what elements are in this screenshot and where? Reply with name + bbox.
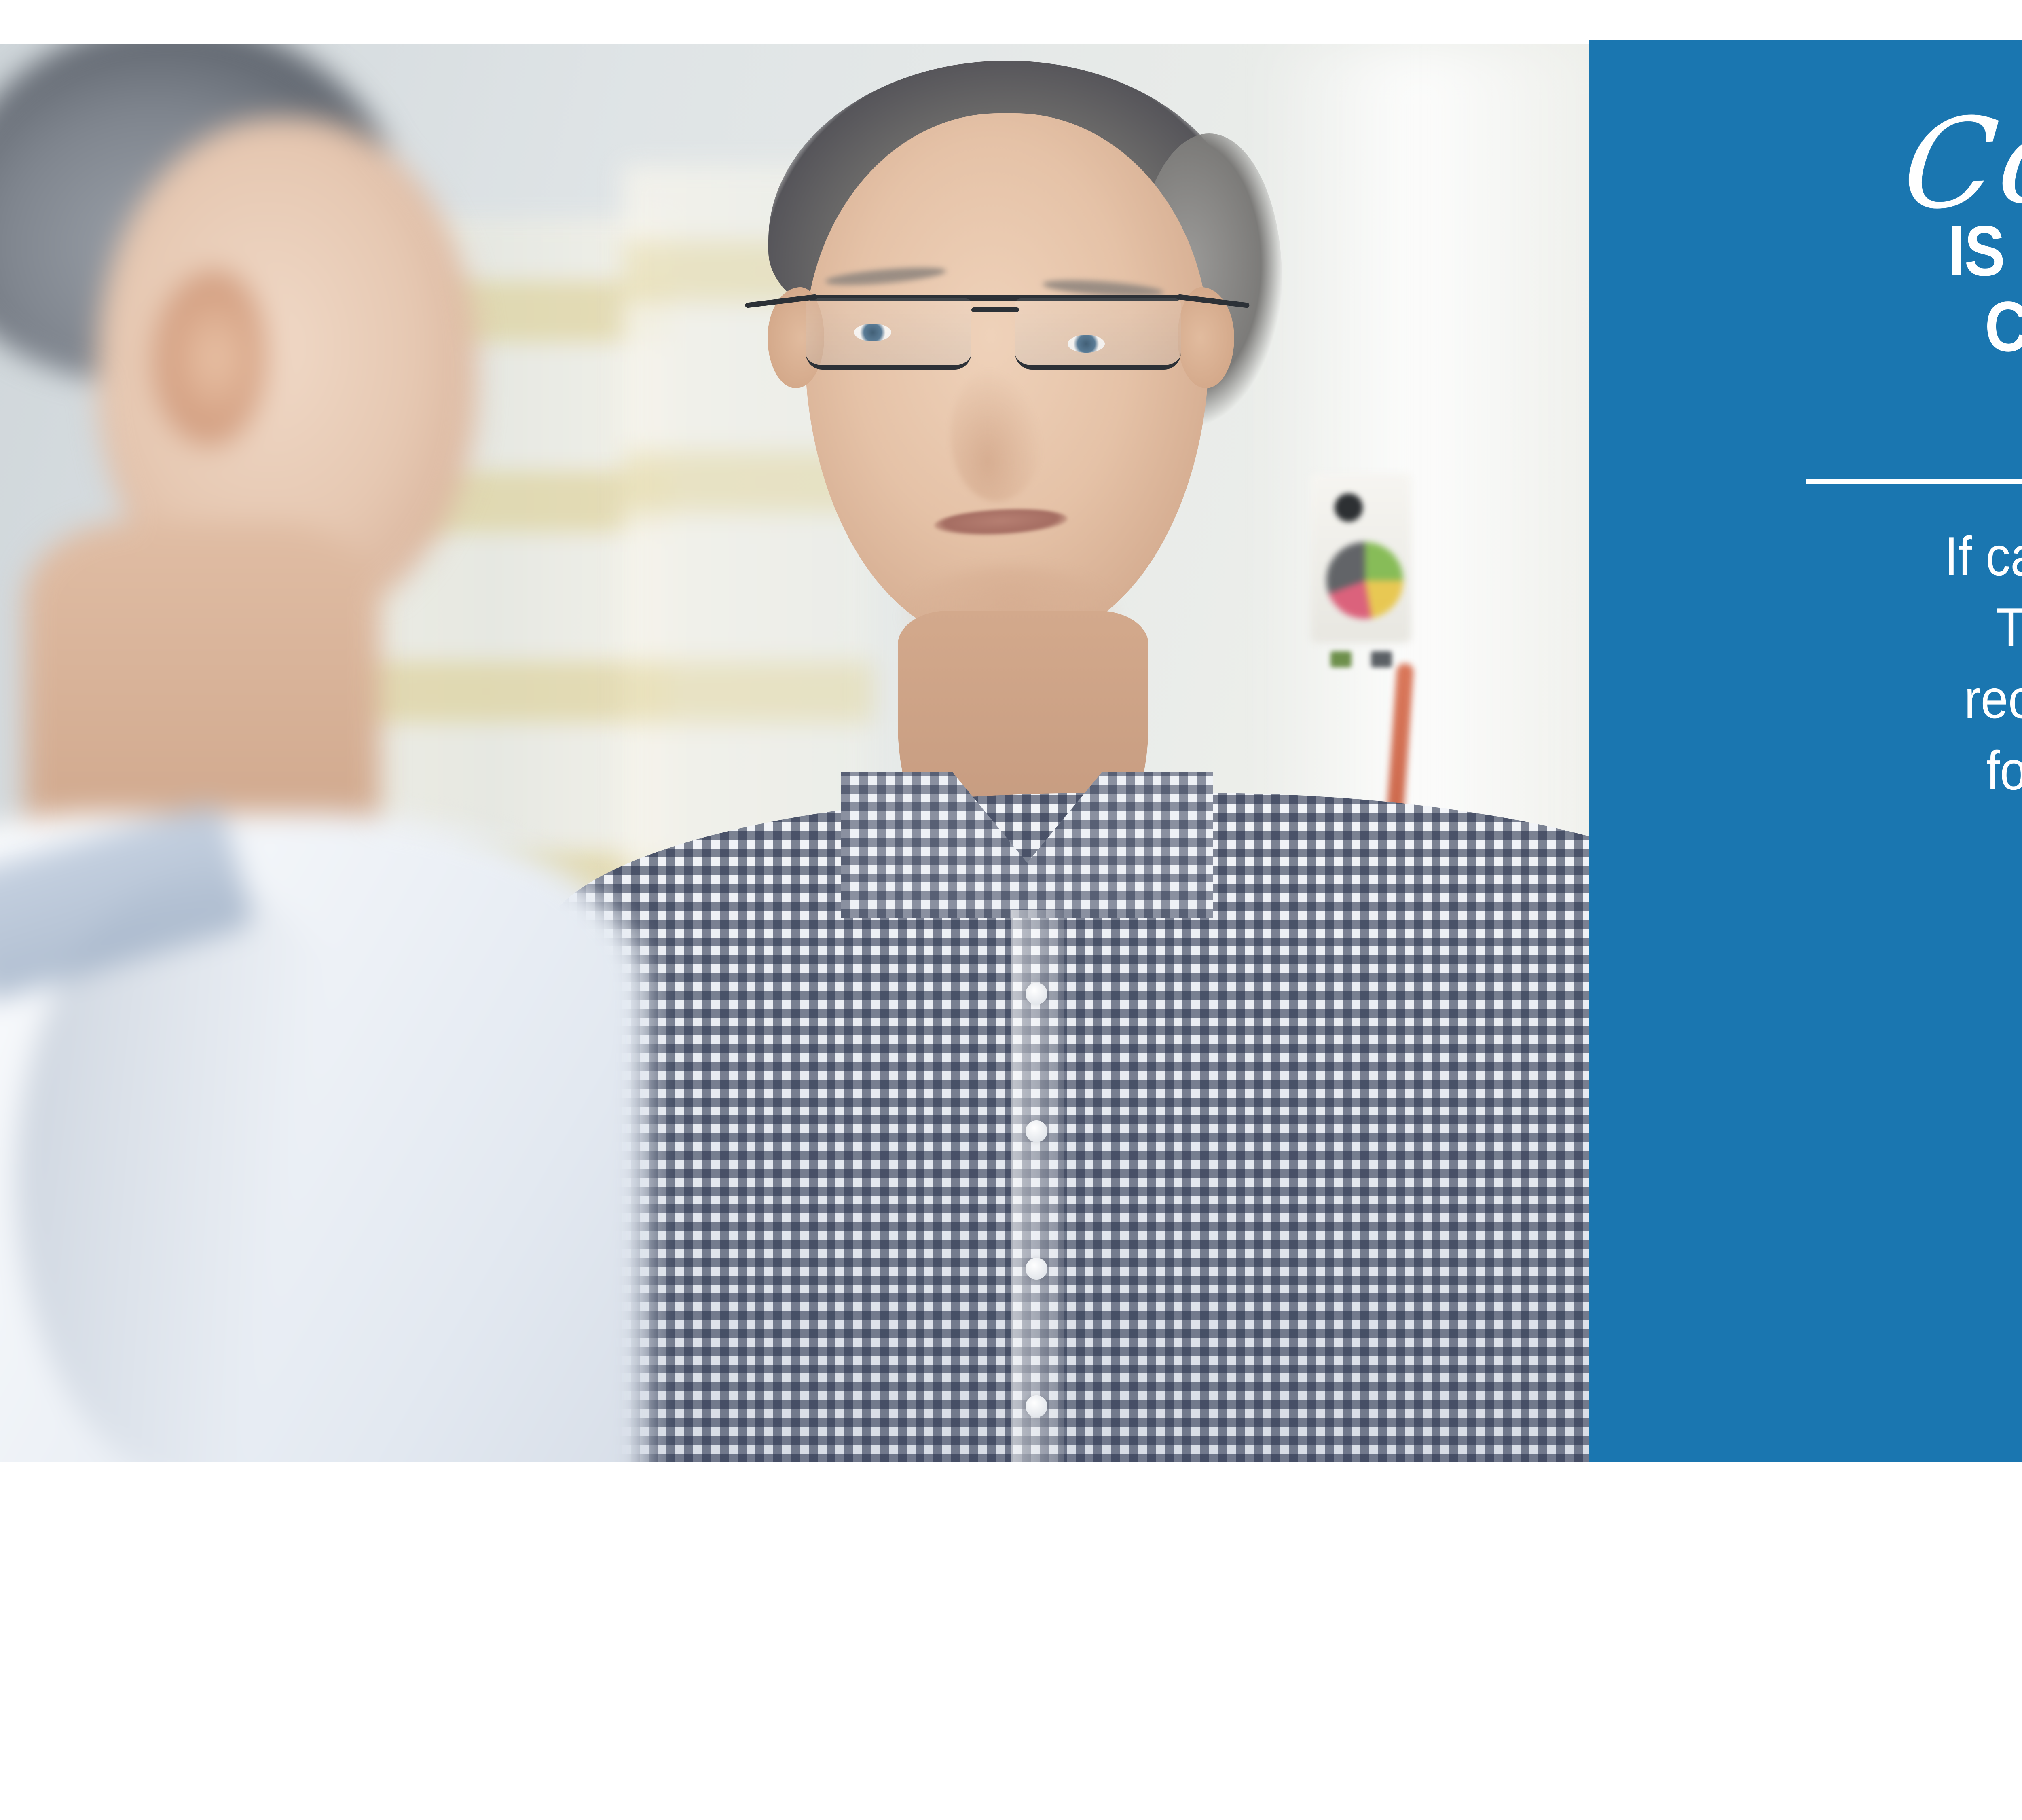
script-headline: Colon cancer <box>1898 55 2022 228</box>
eyeglasses-icon <box>789 291 1237 384</box>
doctor-figure-foreground <box>0 44 639 1462</box>
body-line-5: at age 45. <box>1944 806 2022 878</box>
main-headline: IS THIRD MOST COMMON CANCER IN BOTH MEN … <box>1948 214 2022 440</box>
shirt-button-2 <box>1026 1120 1047 1142</box>
body-line-3: recommends you start screening <box>1944 663 2022 735</box>
footer-bar: Schedule a screening today. <box>0 1462 2022 1820</box>
body-line-4: for colorectal and colon cancer <box>1944 735 2022 806</box>
shirt-button-4 <box>1026 1395 1047 1417</box>
headline-line-3: AND WOMEN. <box>1948 364 2022 440</box>
blue-message-panel: Colon cancer IS THIRD MOST COMMON CANCER… <box>1589 40 2022 1468</box>
headline-line-1: IS THIRD MOST COMMON <box>1948 214 2022 289</box>
body-line-2: The American Cancer Society <box>1944 592 2022 663</box>
advertisement-canvas: Colon cancer IS THIRD MOST COMMON CANCER… <box>0 0 2022 1820</box>
glasses-lens-left <box>806 298 971 370</box>
headline-line-2: CANCER IN BOTH MEN <box>1948 289 2022 365</box>
glasses-bridge <box>971 307 1019 312</box>
horizontal-rule-divider <box>1806 479 2022 484</box>
shirt-button-1 <box>1026 983 1047 1005</box>
patient-nose <box>950 368 1043 502</box>
body-copy: If caught early, it’s highly treatable. … <box>1944 521 2022 878</box>
glasses-lens-right <box>1015 298 1181 370</box>
patient-figure <box>615 44 1674 1462</box>
shirt-button-3 <box>1026 1258 1047 1280</box>
body-line-1: If caught early, it’s highly treatable. <box>1944 521 2022 592</box>
